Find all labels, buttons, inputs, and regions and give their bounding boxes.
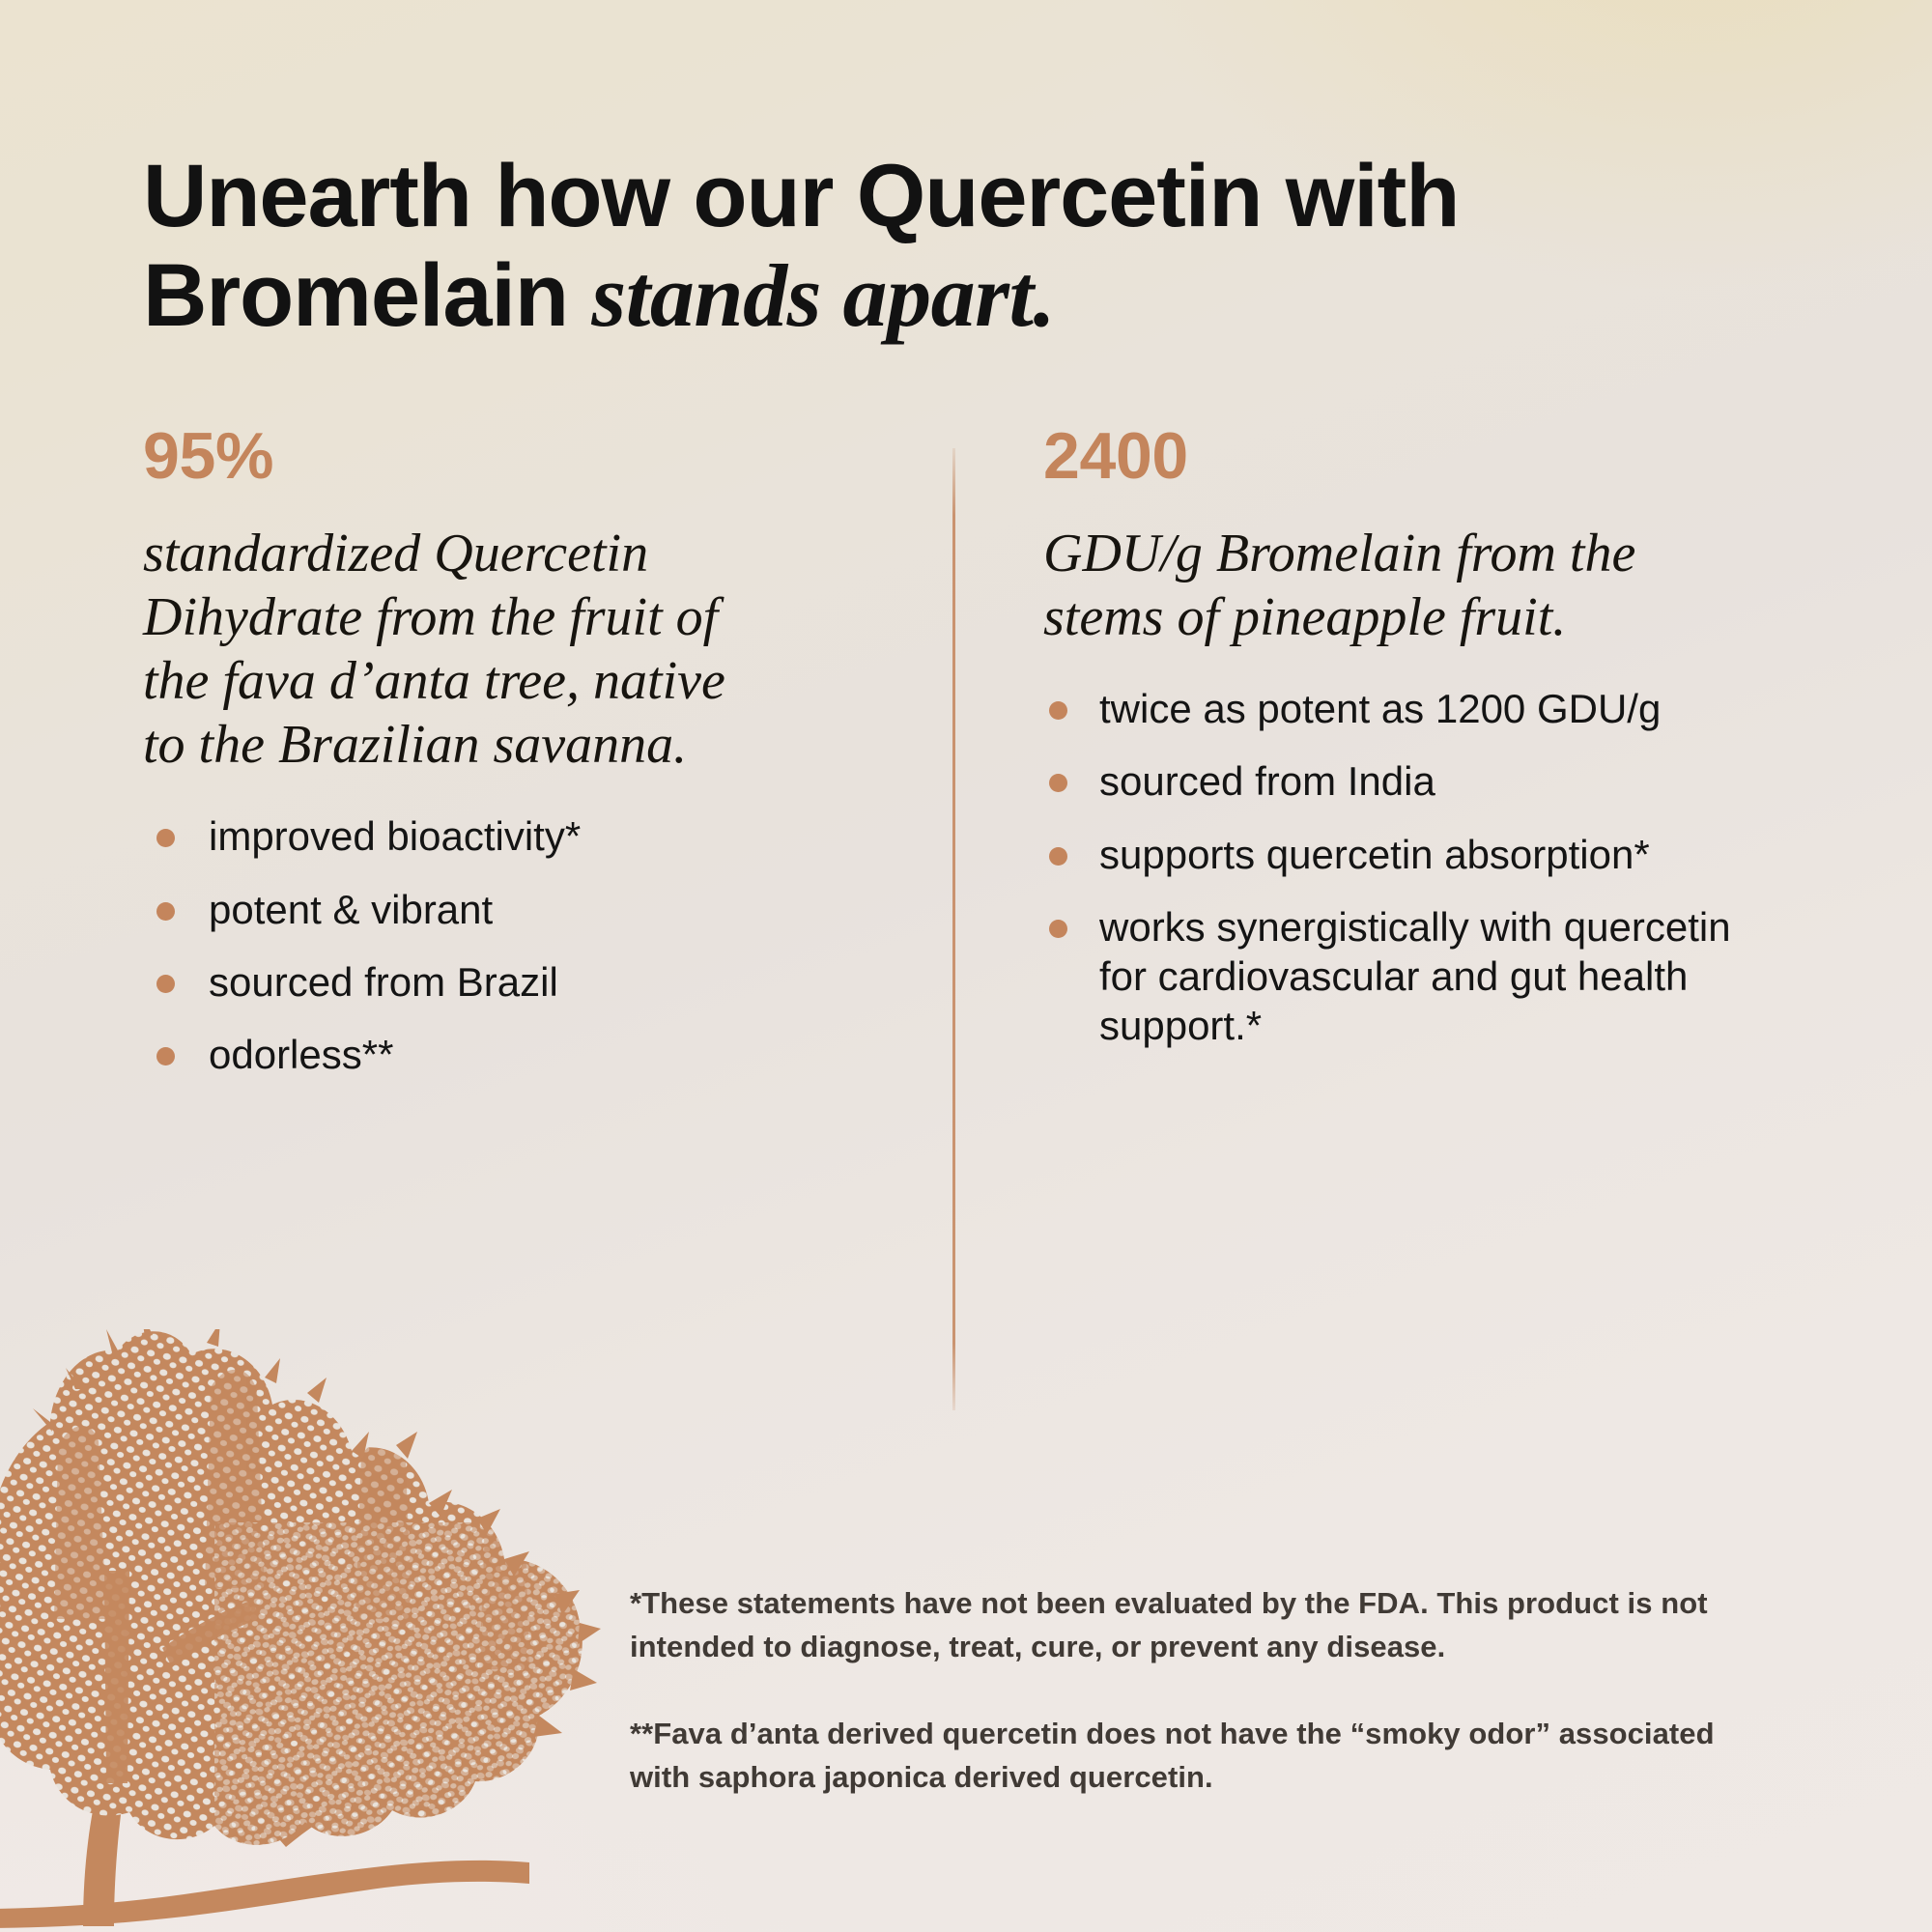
list-item: improved bioactivity* [143, 811, 819, 861]
bullet-dot-icon [156, 975, 175, 993]
bullet-list-bromelain: twice as potent as 1200 GDU/g sourced fr… [1043, 684, 1787, 1050]
poster-content: Unearth how our Quercetin with Bromelain… [0, 0, 1932, 1932]
bullet-dot-icon [1049, 774, 1067, 792]
list-item: sourced from Brazil [143, 957, 819, 1007]
stat-column-bromelain: 2400 GDU/g Bromelain from the stems of p… [1043, 423, 1787, 1051]
list-item: sourced from India [1043, 756, 1787, 806]
bullet-list-quercetin: improved bioactivity* potent & vibrant s… [143, 811, 819, 1079]
footnotes: *These statements have not been evaluate… [630, 1582, 1789, 1800]
bullet-dot-icon [156, 829, 175, 847]
stat-value-2400: 2400 [1043, 423, 1787, 489]
stat-value-95-percent: 95% [143, 423, 819, 489]
list-item: supports quercetin absorption* [1043, 830, 1787, 879]
list-item-label: potent & vibrant [209, 887, 493, 932]
page-title: Unearth how our Quercetin with Bromelain… [143, 147, 1804, 346]
headline-line-2-plain: Bromelain [143, 246, 591, 345]
list-item: twice as potent as 1200 GDU/g [1043, 684, 1787, 733]
list-item: works synergistically with quercetin for… [1043, 902, 1787, 1051]
footnote-odor-disclaimer: **Fava d’anta derived quercetin does not… [630, 1713, 1779, 1799]
bullet-dot-icon [1049, 847, 1067, 866]
list-item-label: sourced from India [1099, 758, 1435, 804]
list-item: potent & vibrant [143, 885, 819, 934]
list-item-label: improved bioactivity* [209, 813, 581, 859]
bullet-dot-icon [1049, 920, 1067, 938]
headline-line-1: Unearth how our Quercetin with [143, 147, 1459, 245]
list-item: odorless** [143, 1030, 819, 1079]
bullet-dot-icon [1049, 701, 1067, 720]
bullet-dot-icon [156, 902, 175, 921]
list-item-label: supports quercetin absorption* [1099, 832, 1650, 877]
fava-danta-tree-icon [0, 1329, 601, 1932]
list-item-label: sourced from Brazil [209, 959, 558, 1005]
column-divider [952, 448, 955, 1410]
stat-column-quercetin: 95% standardized Quercetin Dihydrate fro… [143, 423, 819, 1079]
bullet-dot-icon [156, 1047, 175, 1065]
list-item-label: works synergistically with quercetin for… [1099, 904, 1731, 1048]
list-item-label: odorless** [209, 1032, 393, 1077]
list-item-label: twice as potent as 1200 GDU/g [1099, 686, 1661, 731]
stat-description-bromelain: GDU/g Bromelain from the stems of pineap… [1043, 522, 1758, 649]
headline-line-2-emphasis: stands apart. [591, 246, 1055, 345]
footnote-fda-disclaimer: *These statements have not been evaluate… [630, 1582, 1789, 1668]
poster-canvas: Unearth how our Quercetin with Bromelain… [0, 0, 1932, 1932]
stat-description-quercetin: standardized Quercetin Dihydrate from th… [143, 522, 781, 777]
